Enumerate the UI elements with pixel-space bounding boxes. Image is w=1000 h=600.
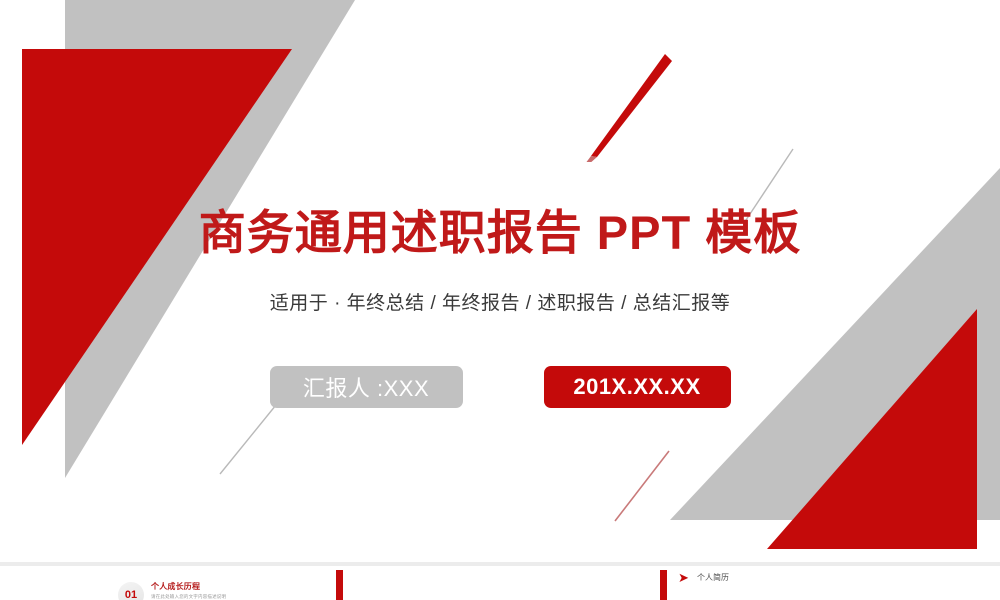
thumbnail-text-group: 个人成长历程 请在此处输入您的文字内容描述说明 <box>151 578 226 600</box>
thumbnail-heading: 个人成长历程 <box>151 581 226 592</box>
page-title: 商务通用述职报告 PPT 模板 <box>0 205 1000 261</box>
thumbnail-number-badge: 01 <box>118 582 144 600</box>
thumbnail-item-growth[interactable]: 01 个人成长历程 请在此处输入您的文字内容描述说明 <box>118 578 226 600</box>
thumbnail-item-resume[interactable]: ➤ 个人简历 <box>678 572 729 583</box>
red-triangle-bottom-right-icon <box>767 309 977 549</box>
gray-thin-diagonal-line-left-icon <box>216 402 280 478</box>
thumbnail-divider-bar-2 <box>660 570 667 600</box>
meta-pill-row: 汇报人 :XXX 201X.XX.XX <box>0 366 1000 408</box>
thumbnail-resume-label: 个人简历 <box>697 572 729 583</box>
red-thin-diagonal-line-icon <box>612 448 672 524</box>
thumbnail-subtext: 请在此处输入您的文字内容描述说明 <box>151 594 226 600</box>
slide-canvas: 商务通用述职报告 PPT 模板 适用于 · 年终总结 / 年终报告 / 述职报告… <box>0 0 1000 600</box>
page-subtitle: 适用于 · 年终总结 / 年终报告 / 述职报告 / 总结汇报等 <box>0 288 1000 315</box>
red-diagonal-stroke-icon <box>583 52 673 162</box>
date-pill[interactable]: 201X.XX.XX <box>544 366 731 408</box>
thumbnail-divider-bar-1 <box>336 570 343 600</box>
presenter-pill[interactable]: 汇报人 :XXX <box>270 366 463 408</box>
arrow-right-icon: ➤ <box>678 572 691 583</box>
